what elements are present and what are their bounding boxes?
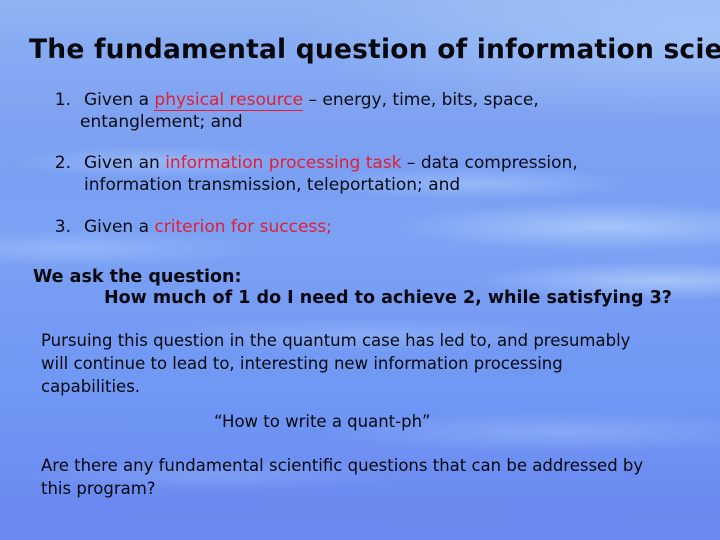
- body-paragraph-1: Pursuing this question in the quantum ca…: [41, 330, 661, 398]
- list-item-body: Given a criterion for success;: [84, 216, 637, 238]
- list-item-text-after: – energy, time, bits, space,: [303, 90, 539, 110]
- list-item-body: Given an information processing task – d…: [84, 152, 657, 174]
- list-item: 1. Given a physical resource – energy, t…: [37, 89, 637, 133]
- slide-title: The fundamental question of information …: [29, 34, 720, 66]
- list-item: 2. Given an information processing task …: [37, 152, 657, 196]
- emphasis-question: How much of 1 do I need to achieve 2, wh…: [104, 288, 672, 309]
- emphasis-lead: We ask the question:: [33, 267, 242, 288]
- list-item-text-before: Given a: [84, 90, 154, 110]
- list-item-number: 3.: [37, 216, 71, 238]
- list-item-body: Given a physical resource – energy, time…: [84, 89, 637, 111]
- list-item-highlight: criterion for success;: [154, 217, 331, 237]
- list-item-line2: entanglement; and: [80, 111, 637, 133]
- list-item-line2: information transmission, teleportation;…: [84, 174, 657, 196]
- list-item-number: 1.: [37, 89, 71, 111]
- body-quote: “How to write a quant-ph”: [214, 412, 431, 432]
- list-item-text-before: Given a: [84, 217, 154, 237]
- list-item-highlight: physical resource: [154, 90, 303, 111]
- list-item-number: 2.: [37, 152, 71, 174]
- body-paragraph-2: Are there any fundamental scientific que…: [41, 455, 661, 501]
- list-item-highlight: information processing task: [165, 153, 401, 173]
- list-item-text-after: – data compression,: [402, 153, 578, 173]
- list-item-text-before: Given an: [84, 153, 165, 173]
- list-item: 3. Given a criterion for success;: [37, 216, 637, 238]
- slide-canvas: The fundamental question of information …: [0, 0, 720, 540]
